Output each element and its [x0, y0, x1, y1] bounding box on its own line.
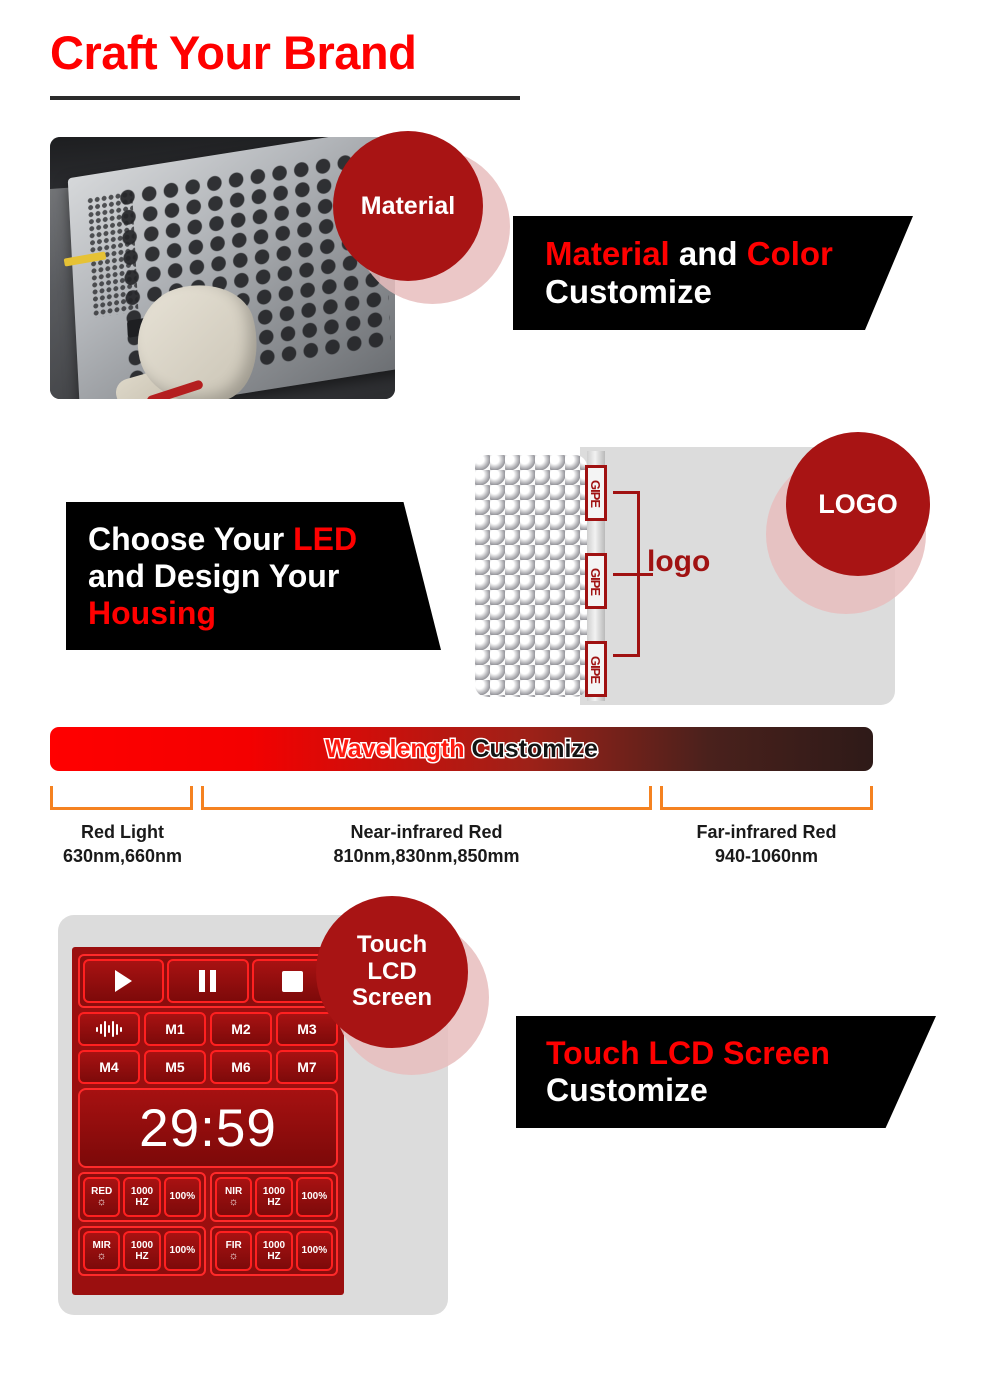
mode-group-red: RED ☼ 1000HZ 100%: [78, 1172, 206, 1222]
mode-group-fir: FIR ☼ 1000HZ 100%: [210, 1226, 338, 1276]
mode-name-nir[interactable]: NIR ☼: [215, 1177, 252, 1217]
touch-lcd-badge: Touch LCD Screen: [316, 896, 491, 1071]
memory-row-1: M1 M2 M3: [78, 1012, 338, 1046]
logo-badge-label: LOGO: [786, 432, 930, 576]
logo-callout-label: logo: [647, 545, 710, 579]
banner-word-color: Color: [747, 235, 833, 272]
play-icon: [115, 970, 132, 992]
page-title: Craft Your Brand: [50, 26, 416, 80]
led-dot-array: [475, 455, 587, 697]
logo-mark-text: GIPE: [589, 479, 604, 506]
wavelength-bracket-3: [660, 786, 873, 810]
stop-icon: [282, 971, 303, 992]
wavelength-label-1: Red Light 630nm,660nm: [40, 820, 205, 869]
led-banner-word-led: LED: [293, 521, 357, 557]
memory-row-2: M4 M5 M6 M7: [78, 1050, 338, 1084]
customize-word: Customize: [471, 735, 597, 763]
banner-line-1: Material and Color: [545, 235, 913, 273]
waveform-button[interactable]: [78, 1012, 140, 1046]
mode-pct-nir[interactable]: 100%: [296, 1177, 333, 1217]
memory-button-m4[interactable]: M4: [78, 1050, 140, 1084]
wavelength-values: 810nm,830nm,850mm: [201, 844, 652, 868]
wavelength-values: 630nm,660nm: [40, 844, 205, 868]
wavelength-bar: Wavelength Customize: [50, 727, 873, 771]
lcd-screen[interactable]: M1 M2 M3 M4 M5 M6 M7 29:59 RED ☼ 1: [72, 947, 344, 1295]
material-badge-label: Material: [333, 131, 483, 281]
memory-button-m5[interactable]: M5: [144, 1050, 206, 1084]
touch-lcd-banner: Touch LCD Screen Customize: [516, 1016, 936, 1128]
led-banner-text-choose: Choose Your: [88, 521, 293, 557]
mode-row-1: RED ☼ 1000HZ 100% NIR ☼ 1000HZ 100%: [78, 1172, 338, 1222]
wavelength-name: Far-infrared Red: [660, 820, 873, 844]
wavelength-bracket-2: [201, 786, 652, 810]
memory-button-m1[interactable]: M1: [144, 1012, 206, 1046]
mode-hz-red[interactable]: 1000HZ: [123, 1177, 160, 1217]
wavelength-label-3: Far-infrared Red 940-1060nm: [660, 820, 873, 869]
logo-mark: GIPE: [585, 465, 607, 521]
mode-group-nir: NIR ☼ 1000HZ 100%: [210, 1172, 338, 1222]
mode-name-red[interactable]: RED ☼: [83, 1177, 120, 1217]
badge-line-3: Screen: [352, 985, 432, 1012]
mode-pct-red[interactable]: 100%: [164, 1177, 201, 1217]
mode-name-fir[interactable]: FIR ☼: [215, 1231, 252, 1271]
waveform-icon: [96, 1020, 122, 1038]
lcd-banner-line-2: Customize: [546, 1072, 936, 1109]
infographic-page: Craft Your Brand Material Material and C…: [0, 0, 1000, 1376]
pause-button[interactable]: [167, 959, 248, 1003]
material-banner: Material and Color Customize: [513, 216, 913, 330]
led-housing-banner: Choose Your LED and Design Your Housing: [66, 502, 441, 650]
lcd-banner-line-1: Touch LCD Screen: [546, 1035, 936, 1072]
led-banner-line-3: Housing: [88, 595, 441, 632]
bracket-arm: [613, 573, 640, 576]
badge-line-1: Touch: [357, 932, 427, 959]
wavelength-name: Red Light: [40, 820, 205, 844]
banner-word-material: Material: [545, 235, 670, 272]
led-banner-line-1: Choose Your LED: [88, 521, 441, 558]
wavelength-bar-title: Wavelength Customize: [325, 735, 598, 764]
mode-pct-fir[interactable]: 100%: [296, 1231, 333, 1271]
play-button[interactable]: [83, 959, 164, 1003]
logo-mark: GIPE: [585, 641, 607, 697]
wavelength-word: Wavelength: [325, 735, 464, 763]
logo-mark-text: GIPE: [589, 655, 604, 682]
wavelength-label-2: Near-infrared Red 810nm,830nm,850mm: [201, 820, 652, 869]
banner-line-2: Customize: [545, 273, 913, 311]
brightness-icon: ☼: [97, 1251, 107, 1262]
mode-hz-nir[interactable]: 1000HZ: [255, 1177, 292, 1217]
logo-badge: LOGO: [766, 432, 941, 607]
wavelength-values: 940-1060nm: [660, 844, 873, 868]
badge-line-2: LCD: [367, 959, 416, 986]
logo-mark-text: GIPE: [589, 567, 604, 594]
material-badge: Material: [333, 131, 508, 306]
touch-lcd-badge-label: Touch LCD Screen: [316, 896, 468, 1048]
timer-value: 29:59: [139, 1098, 277, 1159]
mode-hz-mir[interactable]: 1000HZ: [123, 1231, 160, 1271]
mode-row-2: MIR ☼ 1000HZ 100% FIR ☼ 1000HZ 100%: [78, 1226, 338, 1276]
memory-button-m2[interactable]: M2: [210, 1012, 272, 1046]
mode-name-mir[interactable]: MIR ☼: [83, 1231, 120, 1271]
banner-word-and: and: [670, 235, 747, 272]
memory-button-m6[interactable]: M6: [210, 1050, 272, 1084]
title-divider: [50, 96, 520, 100]
mode-hz-fir[interactable]: 1000HZ: [255, 1231, 292, 1271]
timer-display[interactable]: 29:59: [78, 1088, 338, 1168]
brightness-icon: ☼: [97, 1197, 107, 1208]
mode-group-mir: MIR ☼ 1000HZ 100%: [78, 1226, 206, 1276]
panel-led-face: [475, 455, 587, 697]
bracket-arm: [613, 491, 640, 494]
wavelength-name: Near-infrared Red: [201, 820, 652, 844]
bracket-arm: [613, 654, 640, 657]
logo-mark: GIPE: [585, 553, 607, 609]
logo-callout-bracket: [613, 491, 639, 657]
mode-pct-mir[interactable]: 100%: [164, 1231, 201, 1271]
transport-controls: [78, 954, 338, 1008]
wavelength-bracket-1: [50, 786, 193, 810]
brightness-icon: ☼: [229, 1251, 239, 1262]
led-banner-line-2: and Design Your: [88, 558, 441, 595]
brightness-icon: ☼: [229, 1197, 239, 1208]
pause-icon: [199, 970, 216, 992]
